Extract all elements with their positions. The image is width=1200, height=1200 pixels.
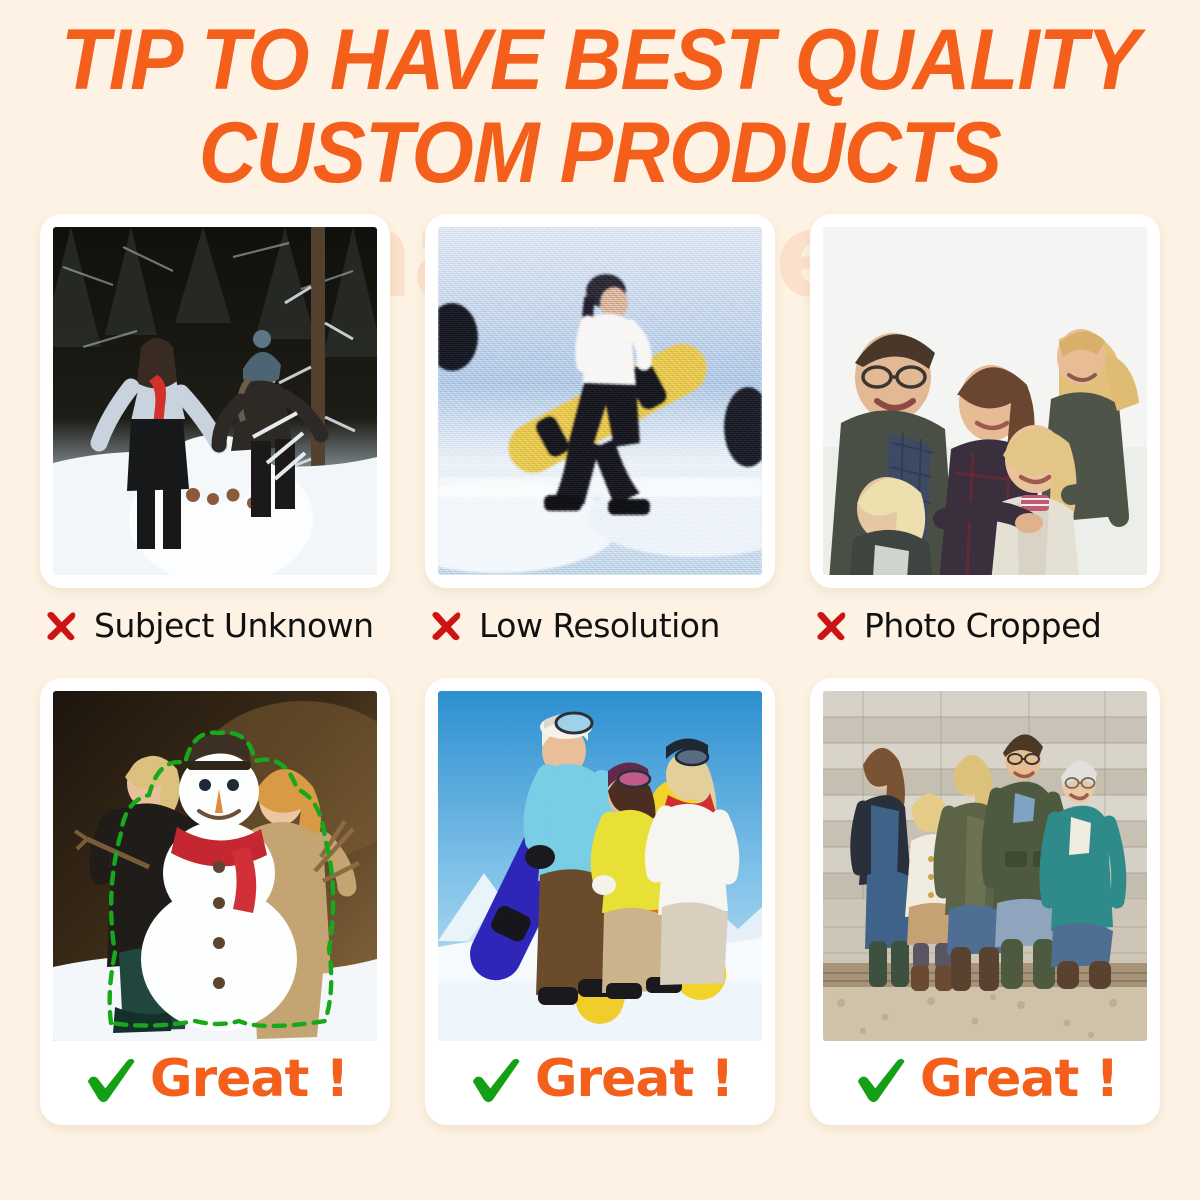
x-icon bbox=[42, 607, 80, 645]
snowman-hug-illustration bbox=[53, 691, 377, 1041]
example-cell-subject-unknown[interactable]: Subject Unknown bbox=[40, 214, 390, 664]
example-cell-great-family[interactable]: Great ! bbox=[810, 678, 1160, 1125]
label-text: Great ! bbox=[535, 1049, 733, 1109]
snowboarder-pixelated-illustration bbox=[438, 227, 762, 575]
photo-subject-unknown bbox=[53, 227, 377, 575]
photo-cropped bbox=[823, 227, 1147, 575]
example-cell-photo-cropped[interactable]: Photo Cropped bbox=[810, 214, 1160, 664]
cropped-family-illustration bbox=[823, 227, 1147, 575]
row-bad-examples: Subject Unknown bbox=[0, 214, 1200, 664]
example-cell-great-snowboarders[interactable]: Great ! bbox=[425, 678, 775, 1125]
label-great-family: Great ! bbox=[823, 1041, 1147, 1117]
page-title-line-2: CUSTOM PRODUCTS bbox=[42, 107, 1158, 200]
check-icon bbox=[852, 1051, 908, 1107]
label-text: Great ! bbox=[920, 1049, 1118, 1109]
photo-card: Great ! bbox=[40, 678, 390, 1125]
snowy-forest-illustration bbox=[53, 227, 377, 575]
label-text: Photo Cropped bbox=[864, 606, 1101, 645]
x-icon bbox=[812, 607, 850, 645]
example-cell-low-resolution[interactable]: Low Resolution bbox=[425, 214, 775, 664]
photo-card bbox=[425, 214, 775, 588]
label-low-resolution: Low Resolution bbox=[425, 606, 775, 645]
label-text: Low Resolution bbox=[479, 606, 720, 645]
examples-grid: Subject Unknown bbox=[0, 214, 1200, 1125]
snowboarders-group-illustration bbox=[438, 691, 762, 1041]
label-subject-unknown: Subject Unknown bbox=[40, 606, 390, 645]
example-cell-great-snowman[interactable]: Great ! bbox=[40, 678, 390, 1125]
photo-card: Great ! bbox=[425, 678, 775, 1125]
label-text: Subject Unknown bbox=[94, 606, 374, 645]
page-title-line-1: TIP TO HAVE BEST QUALITY bbox=[42, 14, 1158, 107]
check-icon bbox=[82, 1051, 138, 1107]
photo-great-snowboarders bbox=[438, 691, 762, 1041]
label-photo-cropped: Photo Cropped bbox=[810, 606, 1160, 645]
x-icon bbox=[427, 607, 465, 645]
family-barn-illustration bbox=[823, 691, 1147, 1041]
photo-great-snowman bbox=[53, 691, 377, 1041]
label-text: Great ! bbox=[150, 1049, 348, 1109]
check-icon bbox=[467, 1051, 523, 1107]
photo-card: Great ! bbox=[810, 678, 1160, 1125]
page-title: TIP TO HAVE BEST QUALITY CUSTOM PRODUCTS bbox=[0, 14, 1200, 200]
photo-great-family bbox=[823, 691, 1147, 1041]
photo-low-resolution bbox=[438, 227, 762, 575]
photo-card bbox=[40, 214, 390, 588]
photo-card bbox=[810, 214, 1160, 588]
label-great-snowboarders: Great ! bbox=[438, 1041, 762, 1117]
label-great-snowman: Great ! bbox=[53, 1041, 377, 1117]
row-good-examples: Great ! bbox=[0, 678, 1200, 1125]
